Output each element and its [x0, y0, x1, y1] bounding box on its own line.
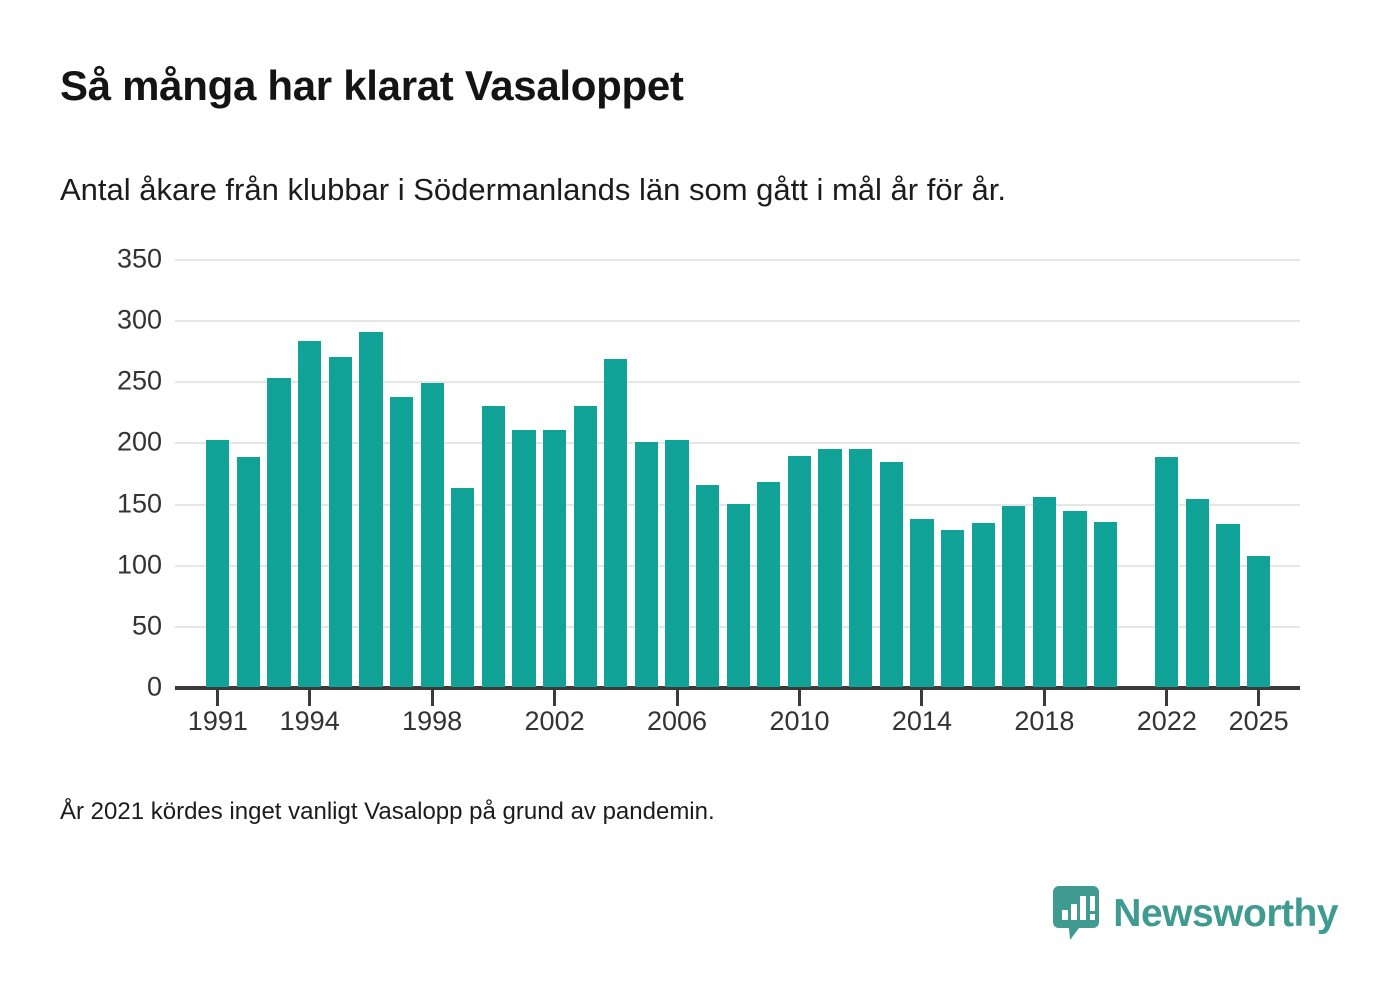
y-axis-tick-label: 200: [117, 427, 162, 458]
brand-name: Newsworthy: [1113, 894, 1338, 933]
bar: [543, 430, 566, 687]
x-axis-tick-mark: [676, 690, 679, 706]
bar: [1216, 524, 1239, 687]
y-axis-tick-label: 0: [147, 672, 162, 703]
bar: [1063, 511, 1086, 687]
bar: [267, 378, 290, 687]
bar: [757, 482, 780, 687]
bar: [390, 397, 413, 687]
bar: [206, 440, 229, 687]
bar: [727, 504, 750, 687]
bar: [1186, 499, 1209, 687]
bar: [512, 430, 535, 687]
bar: [880, 462, 903, 687]
bar: [298, 341, 321, 687]
y-axis-tick-label: 50: [132, 610, 162, 641]
x-axis-tick-mark: [1257, 690, 1260, 706]
x-axis-tick-label: 1998: [402, 706, 462, 737]
bar: [574, 406, 597, 687]
bar: [1002, 506, 1025, 687]
bar: [1247, 556, 1270, 687]
x-axis-tick-label: 1994: [280, 706, 340, 737]
y-axis-tick-label: 250: [117, 366, 162, 397]
x-axis-tick-label: 2010: [769, 706, 829, 737]
y-axis-tick-label: 350: [117, 244, 162, 275]
bar: [788, 456, 811, 687]
x-axis-tick-mark: [308, 690, 311, 706]
x-axis-tick-label: 2018: [1014, 706, 1074, 737]
bar: [604, 359, 627, 687]
x-axis-tick-mark: [431, 690, 434, 706]
x-axis-tick-mark: [216, 690, 219, 706]
chart-page: Så många har klarat Vasaloppet Antal åka…: [0, 0, 1400, 1000]
x-axis-tick-label: 2022: [1137, 706, 1197, 737]
chart-footnote: År 2021 kördes inget vanligt Vasalopp på…: [60, 798, 715, 826]
x-axis-tick-mark: [798, 690, 801, 706]
chart-plot: 050100150200250300350 199119941998200220…: [0, 0, 1400, 1000]
bar: [329, 357, 352, 687]
bar: [910, 519, 933, 687]
x-axis-tick-label: 2006: [647, 706, 707, 737]
x-axis-tick-mark: [920, 690, 923, 706]
x-axis-tick-label: 2002: [525, 706, 585, 737]
bar: [451, 488, 474, 687]
bar: [972, 523, 995, 687]
bar: [665, 440, 688, 687]
bar: [941, 530, 964, 687]
x-axis-tick-mark: [1043, 690, 1046, 706]
bar-chart-speech-bubble-icon: [1053, 886, 1099, 940]
brand-logo: Newsworthy: [1053, 886, 1338, 940]
bar: [818, 449, 841, 687]
bar: [1155, 457, 1178, 687]
x-axis-tick-label: 2025: [1229, 706, 1289, 737]
y-axis-tick-label: 150: [117, 488, 162, 519]
bar: [237, 457, 260, 687]
bar: [482, 406, 505, 687]
x-axis-tick-mark: [1165, 690, 1168, 706]
bars-series: [175, 259, 1300, 687]
y-axis-tick-label: 100: [117, 549, 162, 580]
bar: [1033, 497, 1056, 687]
x-axis-tick-mark: [553, 690, 556, 706]
bar: [1094, 522, 1117, 687]
bar: [359, 332, 382, 687]
x-axis-tick-label: 2014: [892, 706, 952, 737]
y-axis-tick-label: 300: [117, 305, 162, 336]
bar: [635, 442, 658, 687]
bar: [421, 383, 444, 687]
bar: [696, 485, 719, 687]
x-axis-tick-label: 1991: [188, 706, 248, 737]
bar: [849, 449, 872, 687]
